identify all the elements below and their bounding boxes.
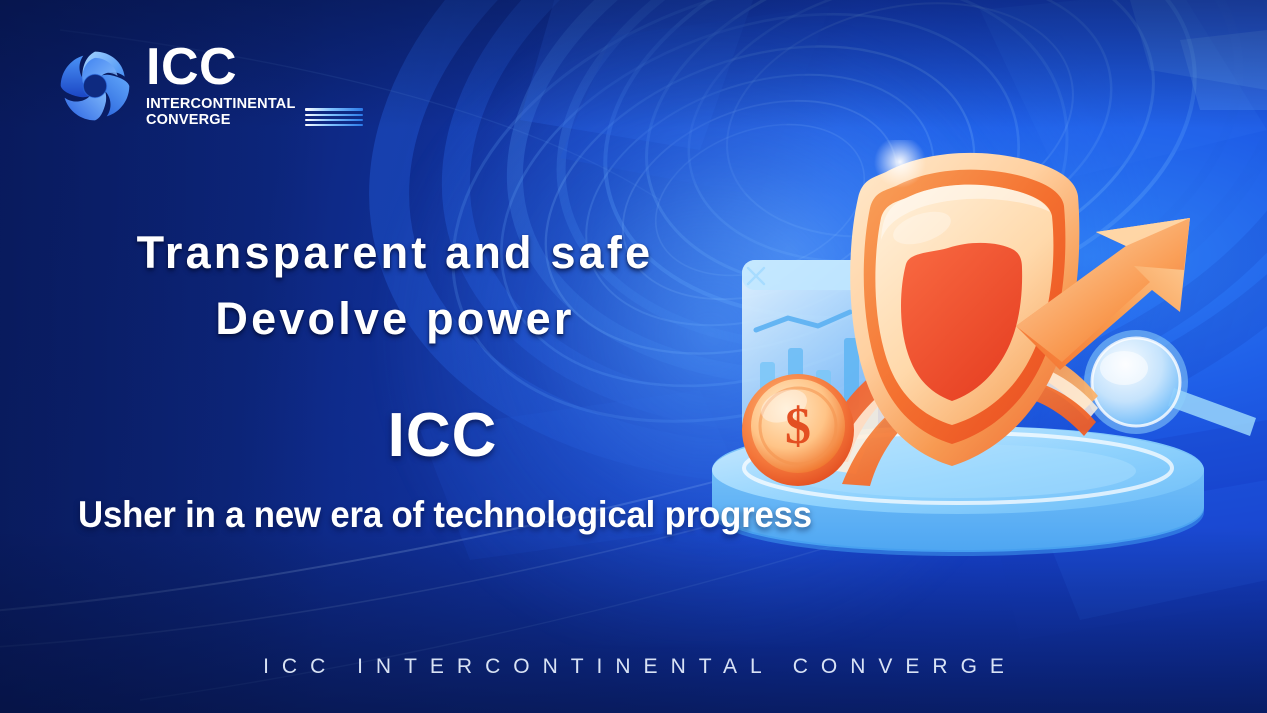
footer-brand-line: ICC INTERCONTINENTAL CONVERGE bbox=[0, 655, 1267, 679]
headline-line-1: Transparent and safe bbox=[137, 227, 654, 278]
hero-headline: Transparent and safe Devolve power bbox=[0, 220, 790, 351]
logo-subtitle-words: INTERCONTINENTAL CONVERGE bbox=[146, 96, 296, 128]
hero-brand-word: ICC bbox=[0, 405, 885, 467]
magnifying-glass-icon bbox=[1084, 330, 1256, 436]
logo-accent-bars-icon bbox=[305, 108, 363, 128]
headline-line-2: Devolve power bbox=[0, 286, 790, 352]
logo-subtitle-line2: CONVERGE bbox=[146, 112, 296, 128]
logo-subtitle: INTERCONTINENTAL CONVERGE bbox=[146, 96, 363, 128]
logo-wordmark: ICC INTERCONTINENTAL CONVERGE bbox=[146, 44, 363, 128]
brand-logo[interactable]: ICC INTERCONTINENTAL CONVERGE bbox=[56, 44, 363, 128]
hero-tagline: Usher in a new era of technological prog… bbox=[27, 495, 864, 536]
logo-subtitle-line1: INTERCONTINENTAL bbox=[146, 96, 296, 112]
logo-icc-text: ICC bbox=[146, 44, 363, 92]
hero-banner: ICC INTERCONTINENTAL CONVERGE bbox=[0, 0, 1267, 713]
aperture-swirl-icon bbox=[56, 47, 134, 125]
